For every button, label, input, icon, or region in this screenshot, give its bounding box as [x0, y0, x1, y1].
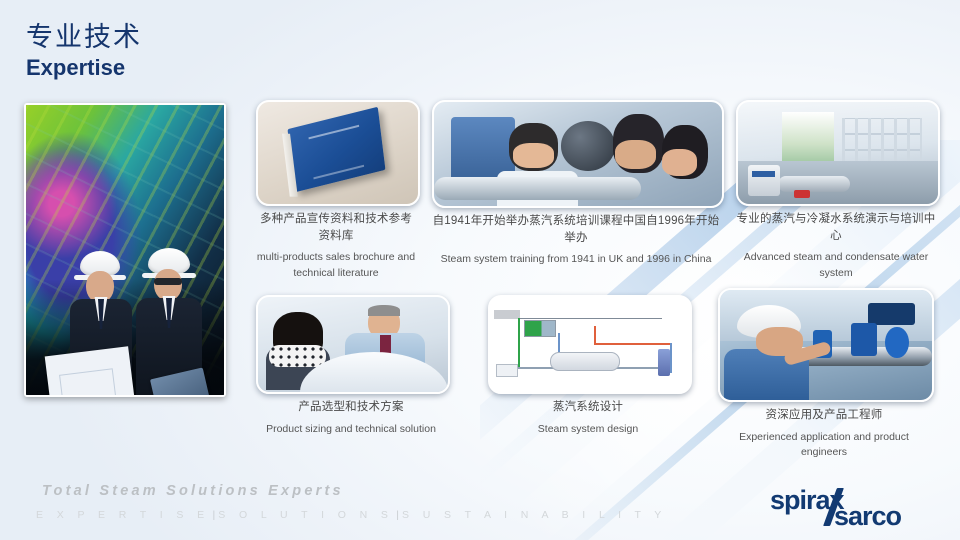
- card-engineers-caption-en: Experienced application and product engi…: [718, 430, 930, 460]
- card-system-design: 蒸汽系统设计 Steam system design: [488, 295, 688, 437]
- card-demo-center-image: [736, 100, 940, 206]
- footer-pillar-expertise: E X P E R T I S E: [36, 509, 210, 521]
- card-training-image: [432, 100, 724, 208]
- card-training-caption-en: Steam system training from 1941 in UK an…: [432, 252, 720, 267]
- card-sizing-caption-en: Product sizing and technical solution: [256, 422, 446, 437]
- footer-pillar-solutions: S O L U T I O N S: [218, 509, 393, 521]
- card-brochure-image: [256, 100, 420, 206]
- footer-pillars: E X P E R T I S E|S O L U T I O N S|S U …: [36, 509, 667, 521]
- footer-separator-1: |: [213, 509, 216, 521]
- footer-tagline: Total Steam Solutions Experts: [42, 483, 344, 499]
- page-title-en: Expertise: [26, 55, 142, 81]
- slide-header: 专业技术 Expertise: [26, 22, 142, 81]
- card-training: 自1941年开始举办蒸汽系统培训课程中国自1996年开始举办 Steam sys…: [432, 100, 720, 268]
- slide-canvas: 专业技术 Expertise 多种产品宣传资: [0, 0, 960, 540]
- card-engineers-image: [718, 288, 934, 402]
- hero-image-engineers: [24, 103, 226, 397]
- spirax-sarco-logo: spirax sarco: [770, 489, 940, 533]
- page-title-cn: 专业技术: [26, 22, 142, 53]
- card-system-design-caption-cn: 蒸汽系统设计: [488, 399, 688, 416]
- hero-blueprint: [45, 346, 140, 397]
- card-brochure-caption-cn: 多种产品宣传资料和技术参考资料库: [256, 211, 416, 244]
- card-demo-center: 专业的蒸汽与冷凝水系统演示与培训中心 Advanced steam and co…: [736, 100, 936, 281]
- card-training-caption-cn: 自1941年开始举办蒸汽系统培训课程中国自1996年开始举办: [432, 213, 720, 246]
- card-engineers: 资深应用及产品工程师 Experienced application and p…: [718, 288, 930, 460]
- card-system-design-caption-en: Steam system design: [488, 422, 688, 437]
- card-brochure-caption-en: multi-products sales brochure and techni…: [256, 250, 416, 280]
- footer-pillar-sustainability: S U S T A I N A B I L I T Y: [402, 509, 667, 521]
- logo-word-sarco: sarco: [834, 503, 901, 530]
- card-demo-center-caption-cn: 专业的蒸汽与冷凝水系统演示与培训中心: [736, 211, 936, 244]
- card-sizing: 产品选型和技术方案 Product sizing and technical s…: [256, 295, 446, 437]
- card-sizing-caption-cn: 产品选型和技术方案: [256, 399, 446, 416]
- card-demo-center-caption-en: Advanced steam and condensate water syst…: [736, 250, 936, 280]
- card-sizing-image: [256, 295, 450, 394]
- card-engineers-caption-cn: 资深应用及产品工程师: [718, 407, 930, 424]
- card-system-design-image: [488, 295, 692, 394]
- card-brochure: 多种产品宣传资料和技术参考资料库 multi-products sales br…: [256, 100, 416, 281]
- footer-separator-2: |: [396, 509, 399, 521]
